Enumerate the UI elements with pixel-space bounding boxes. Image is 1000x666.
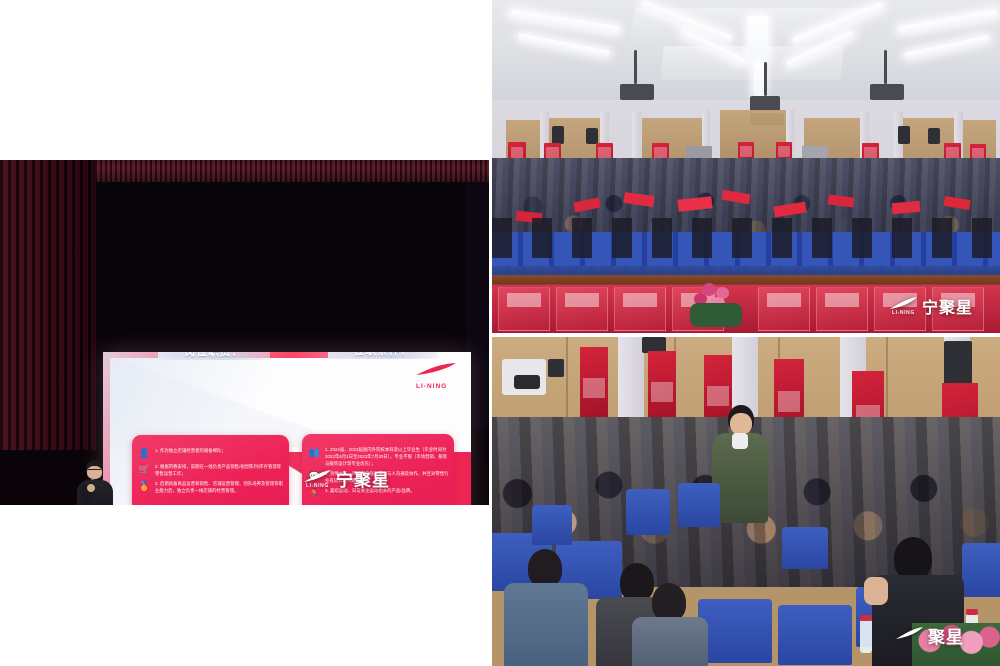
ceiling-light xyxy=(754,62,764,96)
slide-heading-requirements-label: 任职条件： xyxy=(354,352,413,358)
seat-back xyxy=(778,605,852,665)
student-face xyxy=(730,413,752,435)
seat-back xyxy=(698,599,772,663)
seat-back xyxy=(962,543,1000,597)
li-ning-logo: LI-NING xyxy=(415,360,459,390)
seat-back xyxy=(532,505,572,545)
person-head xyxy=(528,549,562,587)
list-item-text: 1. 作为独立店铺经营者的储备梯队； xyxy=(155,447,226,460)
graduates-icon: 👥 xyxy=(308,446,321,459)
wall-speaker xyxy=(928,128,940,144)
medal-icon: 🏅 xyxy=(138,480,151,493)
person-body xyxy=(504,583,588,666)
list-item: 🏅 3. 后期具备商品运营和销售、店铺运营管理、团队培养及管理等职业能力后，独立… xyxy=(138,480,284,494)
projected-slide: LI-NING 岗位职责： 任职条件： 👤 1. 作为独立店铺经营者的储备梯队；… xyxy=(103,352,471,505)
table-cloth-panel xyxy=(816,287,868,331)
ceiling-light xyxy=(748,16,768,62)
list-item-text: 2. 根据带教安排，前期在一线负责产品销售/视觉陈列/库存管理等零售运营工作； xyxy=(155,463,284,477)
water-bottle-cap xyxy=(860,615,872,621)
list-item: 👥 1. 2022届、2023届国内外院校本科及以上毕业生（毕业时间为2022年… xyxy=(308,446,449,467)
watermark-audience-photo: 聚星 xyxy=(896,623,964,648)
slide-heading-duties-label: 岗位职责： xyxy=(185,352,244,359)
li-ning-wordmark: LI-NING xyxy=(416,383,447,390)
projector-mount xyxy=(634,50,637,84)
wall-speaker xyxy=(944,341,972,385)
watermark-brand-label: LI-NING xyxy=(892,310,915,316)
event-poster xyxy=(580,347,608,425)
wall-speaker xyxy=(552,126,564,144)
slide-card-duties: 👤 1. 作为独立店铺经营者的储备梯队； 🛒 2. 根据带教安排，前期在一线负责… xyxy=(132,435,289,505)
seated-person xyxy=(632,583,708,666)
watermark-label: 宁聚星 xyxy=(922,294,973,318)
shopping-cart-icon: 🛒 xyxy=(138,463,151,476)
seat-back xyxy=(782,527,828,569)
auditorium-wide-photo: LI-NING 宁聚星 xyxy=(492,0,1000,333)
presenter-hand xyxy=(87,484,95,492)
watermark-stage-photo: LI-NING 宁聚星 xyxy=(304,466,390,491)
photo-collage: LI-NING 岗位职责： 任职条件： 👤 1. 作为独立店铺经营者的储备梯队；… xyxy=(0,0,1000,666)
watermark-label: 宁聚星 xyxy=(336,466,390,491)
list-item-text: 3. 后期具备商品运营和销售、店铺运营管理、团队培养及管理等职业能力后，独立负责… xyxy=(155,480,284,494)
person-icon: 👤 xyxy=(138,447,151,460)
table-cloth-panel xyxy=(758,287,810,331)
stage-curtain-left xyxy=(0,160,96,450)
person-body xyxy=(632,617,708,666)
li-ning-swoosh-icon xyxy=(890,297,918,310)
list-item-text: 1. 2022届、2023届国内外院校本科及以上毕业生（毕业时间为2022年6月… xyxy=(325,446,449,467)
table-cloth-panel xyxy=(556,287,608,331)
table-cloth-panel xyxy=(498,287,550,331)
ceiling-projector xyxy=(620,84,654,100)
person-head xyxy=(894,537,932,579)
wall-speaker xyxy=(586,128,598,144)
audience-closeup-photo: 聚星 xyxy=(492,337,1000,666)
list-item: 👤 1. 作为独立店铺经营者的储备梯队； xyxy=(138,447,284,460)
watermark-label: 聚星 xyxy=(928,623,964,648)
seat-back xyxy=(678,483,720,527)
ceiling-projector xyxy=(750,96,780,111)
stage-slide-photo: LI-NING 岗位职责： 任职条件： 👤 1. 作为独立店铺经营者的储备梯队；… xyxy=(0,160,489,505)
vip-row-people xyxy=(492,218,1000,258)
li-ning-swoosh-icon xyxy=(304,470,332,483)
table-cloth-panel xyxy=(614,287,666,331)
li-ning-swoosh-icon xyxy=(896,627,924,640)
projector-mount xyxy=(764,62,767,96)
ceiling-projector xyxy=(870,84,904,100)
seat-back xyxy=(626,489,670,535)
list-item: 🛒 2. 根据带教安排，前期在一线负责产品销售/视觉陈列/库存管理等零售运营工作… xyxy=(138,463,284,477)
water-bottle-cap xyxy=(966,609,978,615)
slide-heading-requirements: 任职条件： xyxy=(328,352,438,359)
flower-bouquet xyxy=(688,281,744,329)
watermark-brand-label: LI-NING xyxy=(306,483,329,489)
person-hand xyxy=(864,577,888,605)
slide-diagonal-decoration xyxy=(103,352,313,447)
duties-bullet-list: 👤 1. 作为独立店铺经营者的储备梯队； 🛒 2. 根据带教安排，前期在一线负责… xyxy=(138,447,284,497)
presenter xyxy=(74,460,116,505)
flower-foliage xyxy=(690,303,742,327)
projector-mount xyxy=(884,50,887,84)
presenter-glasses-icon xyxy=(88,469,101,473)
watermark-auditorium-photo: LI-NING 宁聚星 xyxy=(890,294,973,318)
li-ning-swoosh-icon xyxy=(415,362,459,377)
water-bottle xyxy=(860,619,872,653)
student-shirt xyxy=(732,433,748,449)
wall-speaker xyxy=(898,126,910,144)
wall-speaker xyxy=(548,359,564,377)
stage-lighting-head xyxy=(514,375,540,389)
person-head xyxy=(652,583,686,621)
slide-heading-duties: 岗位职责： xyxy=(158,352,270,360)
seated-person xyxy=(504,549,588,666)
